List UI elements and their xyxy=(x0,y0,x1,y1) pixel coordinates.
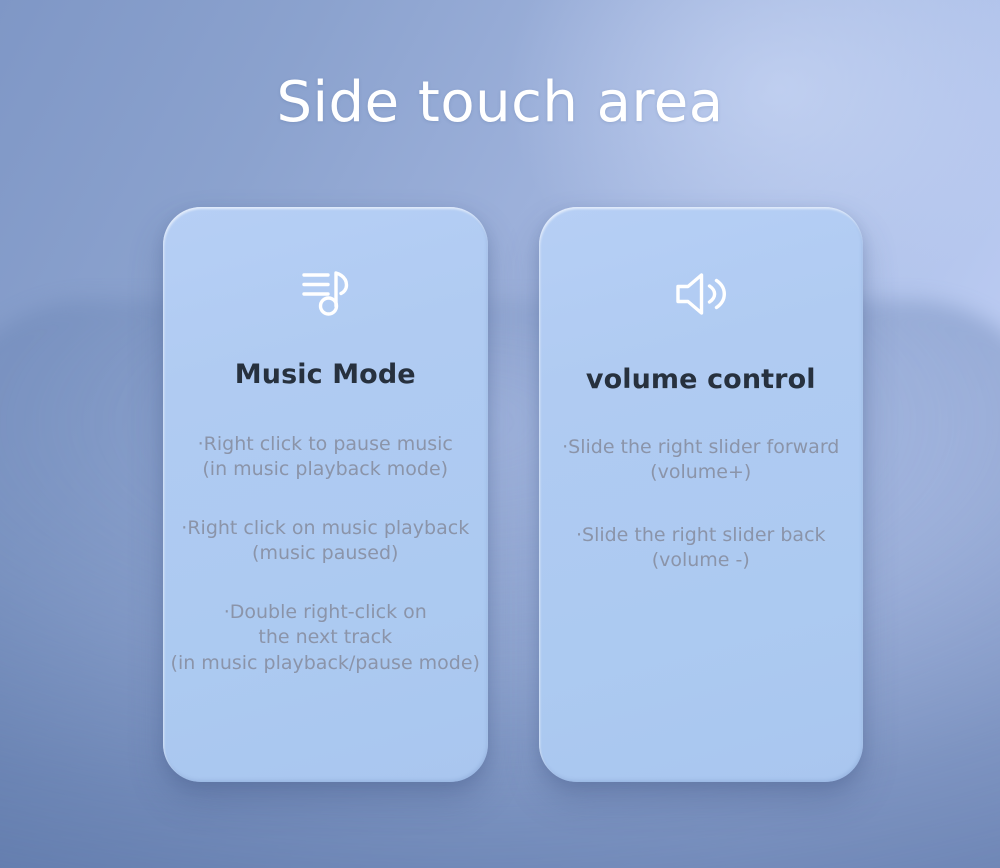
card-bullet: ·Slide the right slider back (volume -) xyxy=(545,523,858,573)
card-bullet: ·Right click on music playback (music pa… xyxy=(169,516,482,566)
music-playlist-note-icon xyxy=(294,261,356,323)
card-title: volume control xyxy=(586,364,816,395)
card-body: ·Slide the right slider forward (volume+… xyxy=(539,435,864,611)
card-bullet: ·Double right-click on the next track (i… xyxy=(169,600,482,675)
feature-card-row: Music Mode ·Right click to pause music (… xyxy=(163,207,863,782)
page-background: Side touch area Music Mode ·Right click … xyxy=(0,0,1000,868)
speaker-volume-icon xyxy=(670,263,732,325)
card-music-mode[interactable]: Music Mode ·Right click to pause music (… xyxy=(163,207,488,782)
card-bullet: ·Right click to pause music (in music pl… xyxy=(169,432,482,482)
card-bullet: ·Slide the right slider forward (volume+… xyxy=(545,435,858,485)
card-body: ·Right click to pause music (in music pl… xyxy=(163,432,488,676)
page-title: Side touch area xyxy=(0,72,1000,134)
card-volume-control[interactable]: volume control ·Slide the right slider f… xyxy=(539,207,864,782)
card-title: Music Mode xyxy=(235,359,416,390)
